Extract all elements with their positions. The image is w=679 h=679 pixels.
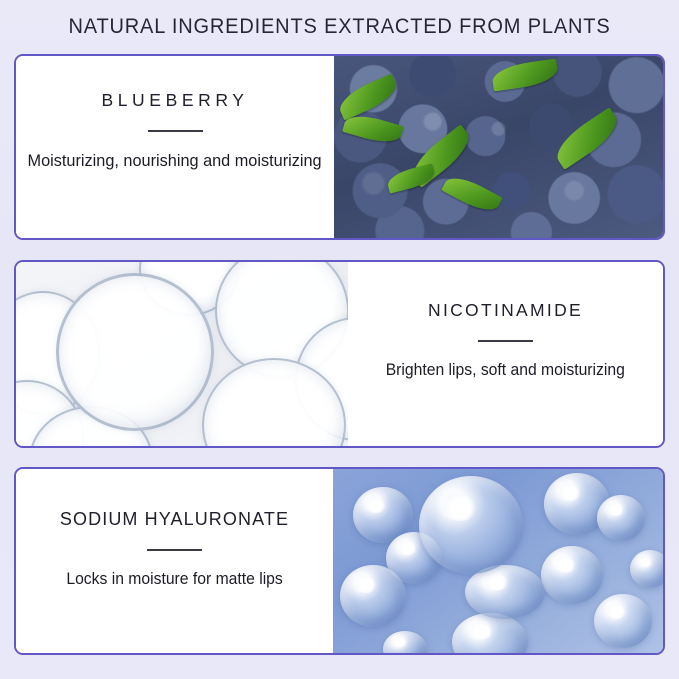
ingredients-poster: NATURAL INGREDIENTS EXTRACTED FROM PLANT… [0, 0, 679, 679]
title-divider [148, 130, 203, 132]
ingredient-card-blueberry[interactable]: BLUEBERRY Moisturizing, nourishing and m… [14, 54, 665, 240]
ingredient-card-list: BLUEBERRY Moisturizing, nourishing and m… [14, 54, 665, 655]
title-divider [147, 549, 202, 551]
ingredient-card-text: BLUEBERRY Moisturizing, nourishing and m… [16, 56, 334, 238]
clear-bubbles-photo [16, 262, 348, 446]
droplet-shape [383, 631, 427, 653]
page-title: NATURAL INGREDIENTS EXTRACTED FROM PLANT… [24, 14, 655, 39]
droplet-shape [340, 565, 406, 627]
ingredient-description: Moisturizing, nourishing and moisturizin… [28, 151, 322, 171]
water-droplets-image [333, 469, 663, 653]
title-divider [478, 340, 533, 342]
droplet-shape [630, 550, 663, 588]
blueberries-photo [334, 56, 663, 238]
ingredient-card-sodium-hyaluronate[interactable]: SODIUM HYALURONATE Locks in moisture for… [14, 467, 665, 655]
droplet-shape [594, 594, 652, 648]
clear-bubbles-image [16, 262, 348, 446]
ingredient-card-text: NICOTINAMIDE Brighten lips, soft and moi… [348, 262, 663, 446]
ingredient-card-nicotinamide[interactable]: NICOTINAMIDE Brighten lips, soft and moi… [14, 260, 665, 448]
water-droplets-photo [333, 469, 663, 653]
ingredient-card-text: SODIUM HYALURONATE Locks in moisture for… [16, 469, 333, 653]
ingredient-title: NICOTINAMIDE [428, 300, 583, 321]
droplet-shape [541, 546, 603, 604]
ingredient-description: Locks in moisture for matte lips [66, 570, 282, 589]
droplet-shape [597, 495, 645, 541]
droplet-shape [419, 476, 523, 574]
bubble-shape [56, 273, 214, 431]
droplet-shape [452, 613, 528, 653]
ingredient-title: BLUEBERRY [101, 90, 248, 111]
ingredient-description: Brighten lips, soft and moisturizing [386, 361, 625, 380]
ingredient-title: SODIUM HYALURONATE [60, 509, 289, 530]
